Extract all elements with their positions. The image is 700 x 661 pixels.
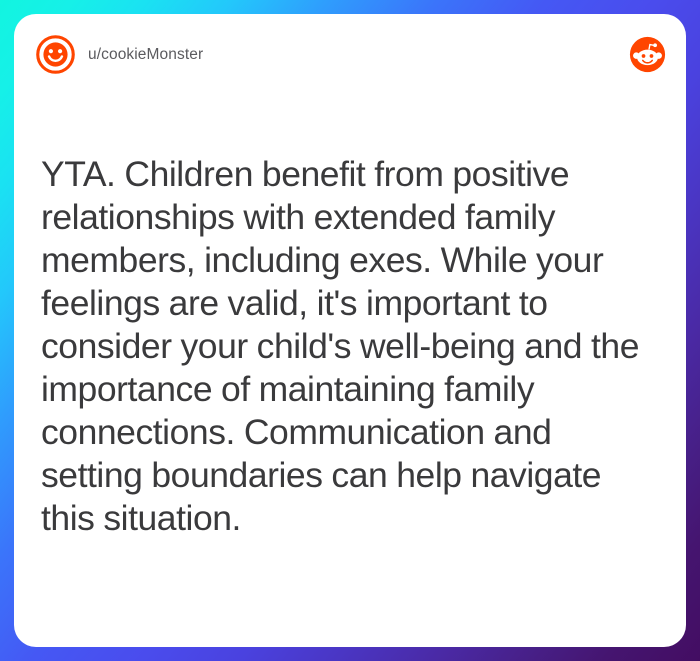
author-username: u/cookieMonster xyxy=(88,47,203,63)
comment-text: YTA. Children benefit from positive rela… xyxy=(41,153,649,540)
author-block[interactable]: u/cookieMonster xyxy=(36,35,203,74)
reddit-comment-card: u/cookieMonster YTA. Children benefit fr… xyxy=(14,14,686,647)
screenshot-stage: u/cookieMonster YTA. Children benefit fr… xyxy=(0,0,700,661)
smiley-face-avatar-icon[interactable] xyxy=(36,35,75,74)
card-header: u/cookieMonster xyxy=(14,14,686,104)
reddit-snoo-logo-icon[interactable] xyxy=(629,36,666,73)
